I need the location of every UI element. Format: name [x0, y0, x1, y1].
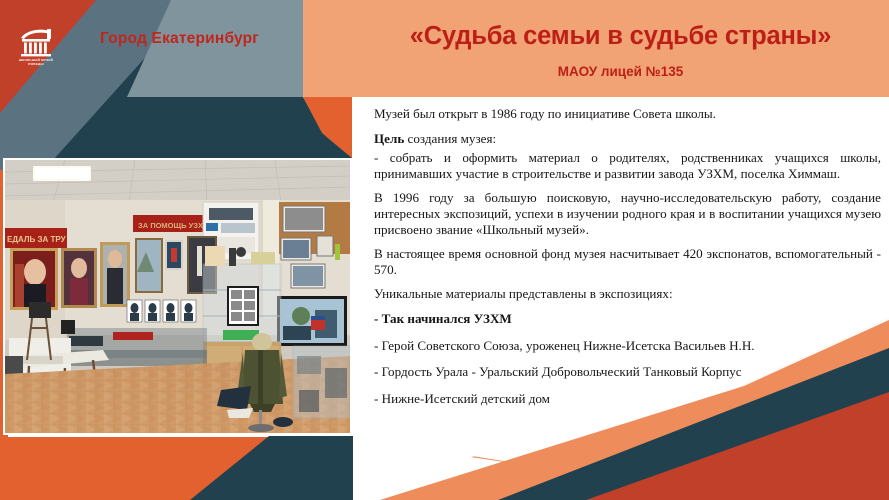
exposition-item: - Гордость Урала - Уральский Добровольче… [374, 364, 881, 380]
svg-text:ЕДАЛЬ ЗА ТРУ: ЕДАЛЬ ЗА ТРУ [7, 235, 67, 244]
museum-building-icon [17, 27, 55, 59]
svg-text:ЗА ПОМОЩЬ УЗХ: ЗА ПОМОЩЬ УЗХ [138, 221, 203, 230]
slide-body-text: Музей был открыт в 1986 году по инициати… [374, 106, 881, 417]
paragraph-opened: Музей был открыт в 1986 году по инициати… [374, 106, 881, 122]
school-subtitle: МАОУ лицей №135 [352, 64, 889, 79]
goal-label: Цель [374, 131, 404, 146]
paragraph-goal-heading: Цель создания музея: [374, 131, 881, 147]
goal-heading-rest: создания музея: [404, 131, 496, 146]
presentation-slide: ШКОЛЬНЫЙ МУЗЕЙ ПОБЕДЫ Город Екатеринбург… [0, 0, 889, 500]
paragraph-goal-body: - собрать и оформить материал о родителя… [374, 150, 881, 181]
exposition-item: - Нижне-Исетский детский дом [374, 391, 881, 407]
city-badge: Город Екатеринбург [100, 30, 259, 48]
paragraph-unique-materials: Уникальные материалы представлены в эксп… [374, 286, 881, 302]
museum-interior-photo: ЕДАЛЬ ЗА ТРУ ЗА ПОМОЩЬ УЗХ [3, 158, 352, 435]
exposition-item-text: - Так начинался УЗХМ [374, 311, 512, 326]
logo-label: ШКОЛЬНЫЙ МУЗЕЙ ПОБЕДЫ [17, 58, 55, 66]
exposition-item: - Герой Советского Союза, уроженец Нижне… [374, 338, 881, 354]
page-title: «Судьба семьи в судьбе страны» [352, 22, 889, 51]
school-museum-logo: ШКОЛЬНЫЙ МУЗЕЙ ПОБЕДЫ [17, 27, 55, 74]
paragraph-1996: В 1996 году за большую поисковую, научно… [374, 190, 881, 237]
exposition-item: - Так начинался УЗХМ [374, 311, 881, 327]
paragraph-fund: В настоящее время основной фонд музея на… [374, 246, 881, 277]
